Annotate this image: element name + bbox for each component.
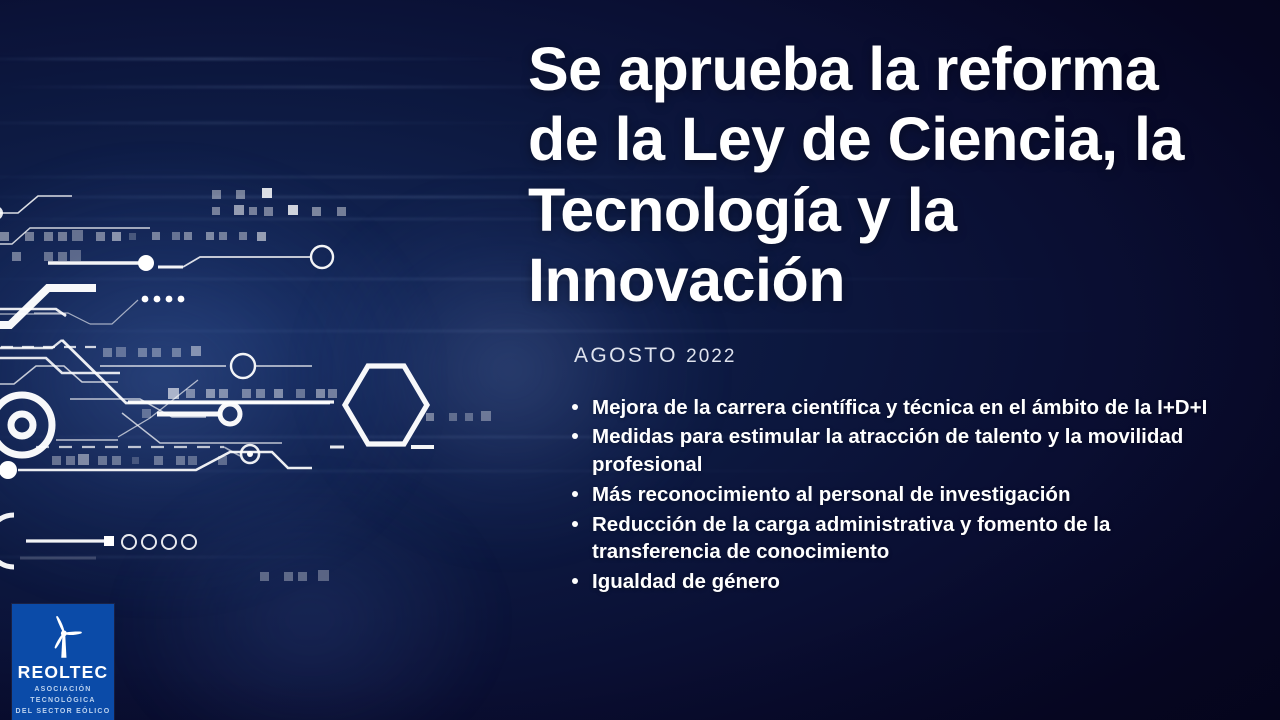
slide-date-year: 2022 (686, 346, 736, 367)
logo-tagline: ASOCIACIÓN TECNOLÓGICA DEL SECTOR EÓLICO (12, 684, 114, 717)
reoltec-logo: REOLTEC ASOCIACIÓN TECNOLÓGICA DEL SECTO… (12, 604, 114, 720)
slide-root: Se aprueba la reforma de la Ley de Cienc… (0, 0, 1280, 720)
slide-date: AGOSTO 2022 (574, 344, 1228, 368)
logo-tagline-line2: TECNOLÓGICA (12, 695, 114, 706)
logo-tagline-line1: ASOCIACIÓN (12, 684, 114, 695)
list-item: Más reconocimiento al personal de invest… (570, 481, 1228, 509)
bullet-list: Mejora de la carrera científica y técnic… (542, 394, 1228, 596)
wind-turbine-icon (37, 611, 89, 663)
list-item: Medidas para estimular la atracción de t… (570, 423, 1228, 478)
list-item: Reducción de la carga administrativa y f… (570, 511, 1228, 566)
page-title: Se aprueba la reforma de la Ley de Cienc… (528, 34, 1228, 316)
logo-wordmark: REOLTEC (12, 662, 114, 683)
logo-tagline-line3: DEL SECTOR EÓLICO (12, 706, 114, 717)
content-panel: Se aprueba la reforma de la Ley de Cienc… (528, 34, 1228, 598)
slide-date-month: AGOSTO (574, 344, 678, 367)
list-item: Mejora de la carrera científica y técnic… (570, 394, 1228, 422)
list-item: Igualdad de género (570, 568, 1228, 596)
